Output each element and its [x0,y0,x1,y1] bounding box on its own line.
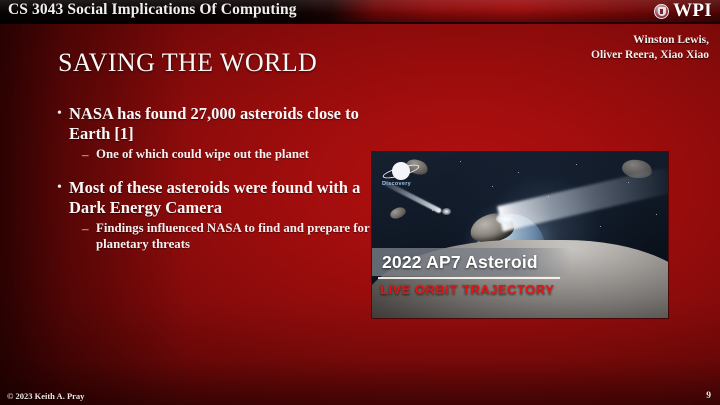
caption-divider [378,277,560,279]
header-divider [0,22,720,24]
bullet-item: • Most of these asteroids were found wit… [54,178,374,217]
sub-bullet-item: – One of which could wipe out the planet [82,147,374,163]
bullet-text: Most of these asteroids were found with … [69,178,374,217]
author-line-1: Winston Lewis, [591,33,709,48]
bullet-marker: • [54,104,69,143]
bullet-item: • NASA has found 27,000 asteroids close … [54,104,374,143]
star-icon [600,226,601,227]
slide-header-bar: CS 3043 Social Implications Of Computing… [0,0,720,22]
bullet-marker: • [54,178,69,217]
sub-bullet-marker: – [82,221,96,252]
author-line-2: Oliver Reera, Xiao Xiao [591,48,709,63]
bullet-group-spacer [54,163,374,178]
slide-title: SAVING THE WORLD [58,48,317,78]
comet-head-small [442,208,451,215]
sub-bullet-text: One of which could wipe out the planet [96,147,309,163]
channel-name: Discovery [382,181,411,187]
caption-subtitle: LIVE ORBIT TRAJECTORY [380,282,554,297]
bullet-text: NASA has found 27,000 asteroids close to… [69,104,374,143]
wpi-wordmark: WPI [673,1,712,21]
star-icon [518,172,519,173]
star-icon [656,214,657,215]
bullet-list: • NASA has found 27,000 asteroids close … [54,104,374,252]
copyright-text: © 2023 Keith A. Pray [7,391,84,401]
course-title: CS 3043 Social Implications Of Computing [8,1,297,19]
sub-bullet-marker: – [82,147,96,163]
wpi-logo: WPI [654,0,712,22]
star-icon [492,186,493,187]
sub-bullet-text: Findings influenced NASA to find and pre… [96,221,374,252]
star-icon [460,161,461,162]
video-thumbnail[interactable]: Discovery 2022 AP7 Asteroid LIVE ORBIT T… [372,152,668,318]
wpi-seal-icon [654,4,669,19]
sub-bullet-item: – Findings influenced NASA to find and p… [82,221,374,252]
planet-body-icon [392,162,410,180]
comet-head [496,214,512,224]
page-number: 9 [706,391,711,401]
presentation-slide: CS 3043 Social Implications Of Computing… [0,0,720,405]
channel-logo: Discovery [380,160,434,194]
author-names: Winston Lewis, Oliver Reera, Xiao Xiao [591,33,709,62]
caption-title: 2022 AP7 Asteroid [382,250,538,274]
